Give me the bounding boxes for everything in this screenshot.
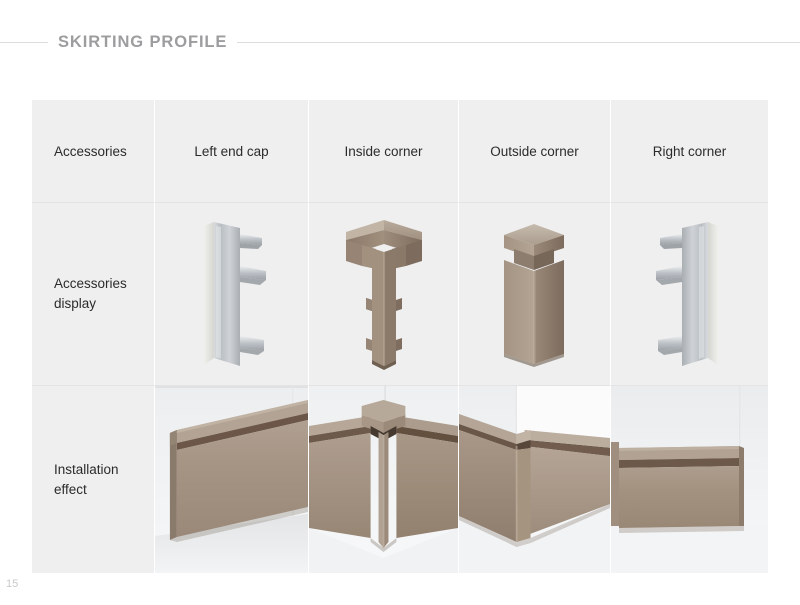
table-header-left-end-cap: Left end cap bbox=[155, 100, 309, 203]
photo-installation-outside-corner bbox=[459, 386, 611, 573]
photo-installation-right-corner bbox=[611, 386, 768, 573]
table-header-accessories: Accessories bbox=[32, 100, 155, 203]
left-end-cap-icon bbox=[194, 218, 270, 370]
installation-inside-corner-image bbox=[309, 386, 458, 573]
installation-right-corner-image bbox=[611, 386, 768, 573]
installation-outside-corner-image bbox=[459, 386, 610, 573]
outside-corner-icon bbox=[496, 218, 574, 370]
inside-corner-icon bbox=[336, 214, 432, 374]
table-header-inside-corner: Inside corner bbox=[309, 100, 459, 203]
header-rule-right bbox=[237, 42, 800, 43]
row-label-installation-effect: Installation effect bbox=[32, 386, 155, 573]
row-label-accessories-display: Accessories display bbox=[32, 203, 155, 386]
page-number: 15 bbox=[6, 578, 18, 590]
table-header-outside-corner: Outside corner bbox=[459, 100, 611, 203]
row-label-line-2: display bbox=[54, 296, 96, 311]
accessories-table: Accessories Left end cap Inside corner O… bbox=[32, 100, 768, 573]
photo-installation-inside-corner bbox=[309, 386, 459, 573]
product-outside-corner bbox=[459, 203, 611, 386]
header-rule-left bbox=[0, 42, 48, 43]
product-left-end-cap bbox=[155, 203, 309, 386]
row-label-line-1: Installation bbox=[54, 462, 119, 477]
row-label-line-1: Accessories bbox=[54, 276, 127, 291]
photo-installation-left-end-cap bbox=[155, 386, 309, 573]
table-header-right-corner: Right corner bbox=[611, 100, 768, 203]
page-header: SKIRTING PROFILE bbox=[0, 30, 800, 54]
installation-left-end-cap-image bbox=[155, 386, 308, 573]
row-label-line-2: effect bbox=[54, 482, 87, 497]
right-corner-icon bbox=[652, 218, 728, 370]
product-inside-corner bbox=[309, 203, 459, 386]
product-right-corner bbox=[611, 203, 768, 386]
page-title: SKIRTING PROFILE bbox=[48, 34, 237, 51]
